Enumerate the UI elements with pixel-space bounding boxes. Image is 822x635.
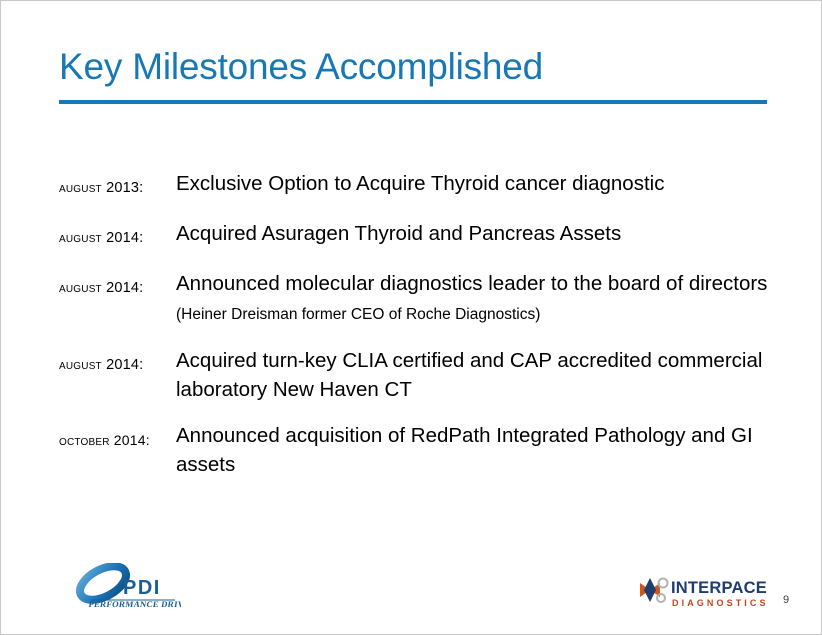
interpace-mark (640, 578, 668, 602)
interpace-wordmark: INTERPACE (671, 579, 767, 597)
interpace-subtitle: DIAGNOSTICS (672, 598, 769, 608)
svg-text:PDI: PDI (123, 577, 161, 599)
title-underline-rule (59, 100, 767, 104)
milestone-date: August 2014: (59, 219, 176, 252)
page-number: 9 (783, 594, 789, 606)
milestone-date: August 2014: (59, 346, 176, 379)
milestone-text: Acquired Asuragen Thyroid and Pancreas A… (176, 219, 774, 248)
milestone-text-main: Acquired Asuragen Thyroid and Pancreas A… (176, 222, 621, 245)
milestone-text: Acquired turn-key CLIA certified and CAP… (176, 346, 774, 404)
milestone-text-main: Announced molecular diagnostics leader t… (176, 272, 767, 295)
list-item: October 2014: Announced acquisition of R… (59, 421, 774, 479)
interpace-diagnostics-logo: INTERPACE DIAGNOSTICS (637, 575, 777, 611)
milestone-note: (Heiner Dreisman former CEO of Roche Dia… (176, 306, 540, 323)
list-item: August 2013: Exclusive Option to Acquire… (59, 169, 774, 202)
list-item: August 2014: Acquired Asuragen Thyroid a… (59, 219, 774, 252)
milestone-date: August 2014: (59, 269, 176, 302)
milestone-text: Announced acquisition of RedPath Integra… (176, 421, 774, 479)
milestone-text-main: Exclusive Option to Acquire Thyroid canc… (176, 172, 664, 195)
list-item: August 2014: Announced molecular diagnos… (59, 269, 774, 329)
slide: Key Milestones Accomplished August 2013:… (0, 0, 822, 635)
page-title: Key Milestones Accomplished (59, 45, 769, 89)
milestone-text: Exclusive Option to Acquire Thyroid canc… (176, 169, 774, 198)
milestone-text-main: Acquired turn-key CLIA certified and CAP… (176, 349, 762, 401)
milestone-list: August 2013: Exclusive Option to Acquire… (59, 169, 774, 479)
pdi-logo: PDI PERFORMANCE DRIVEN (71, 563, 181, 611)
milestone-date: August 2013: (59, 169, 176, 202)
milestone-text-main: Announced acquisition of RedPath Integra… (176, 424, 753, 476)
milestone-date: October 2014: (59, 421, 176, 454)
svg-text:PERFORMANCE DRIVEN: PERFORMANCE DRIVEN (88, 599, 181, 609)
pdi-logo-icon: PDI PERFORMANCE DRIVEN (71, 563, 181, 611)
list-item: August 2014: Acquired turn-key CLIA cert… (59, 346, 774, 404)
title-block: Key Milestones Accomplished (59, 45, 769, 89)
milestone-text: Announced molecular diagnostics leader t… (176, 269, 774, 329)
interpace-logo-icon: INTERPACE DIAGNOSTICS (637, 575, 777, 611)
